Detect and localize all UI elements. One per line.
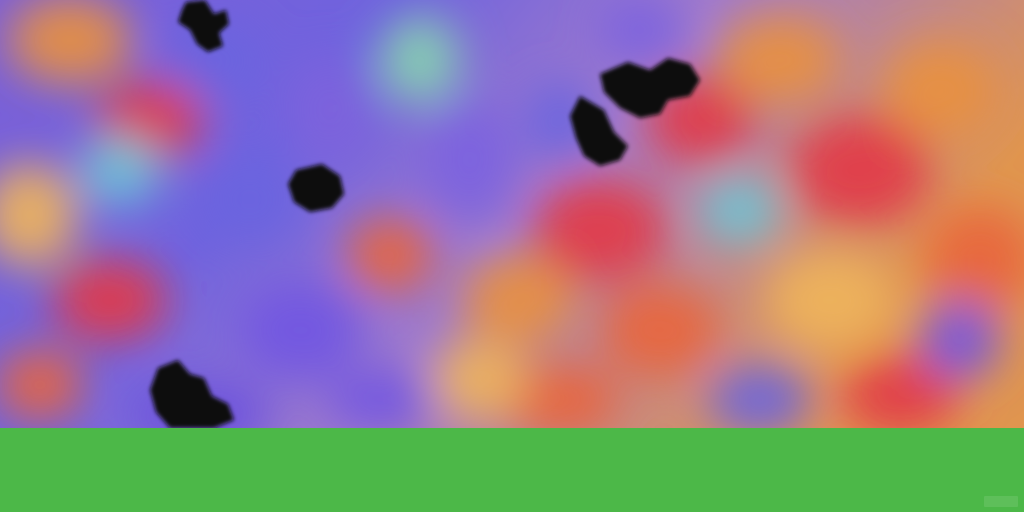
heatmap-blob — [718, 14, 842, 106]
heatmap-blob — [534, 178, 666, 282]
heatmap-blob — [920, 300, 1000, 380]
heatmap-blob — [8, 0, 132, 84]
heatmap-blob — [198, 154, 302, 246]
corner-watermark — [984, 496, 1018, 507]
heatmap-blob — [432, 340, 528, 420]
heatmap-blob — [424, 100, 516, 220]
heatmap-blob — [238, 280, 362, 380]
heatmap-blob — [600, 282, 720, 378]
heatmap-blob — [0, 349, 84, 421]
heatmap-blob — [346, 217, 434, 293]
conference-banner: American Association for Cancer Research… — [0, 0, 1024, 512]
heatmap-artwork — [0, 0, 1024, 428]
heatmap-blob — [380, 16, 460, 104]
heatmap-blob — [882, 40, 998, 140]
heatmap-blob — [52, 258, 168, 342]
heatmap-blob — [700, 176, 780, 244]
footer-green-bar: American Association for Cancer Research… — [0, 428, 1024, 512]
heatmap-canvas — [0, 0, 1024, 428]
heatmap-blob — [284, 54, 376, 166]
heatmap-blob — [80, 134, 160, 206]
heatmap-blob — [766, 250, 894, 350]
